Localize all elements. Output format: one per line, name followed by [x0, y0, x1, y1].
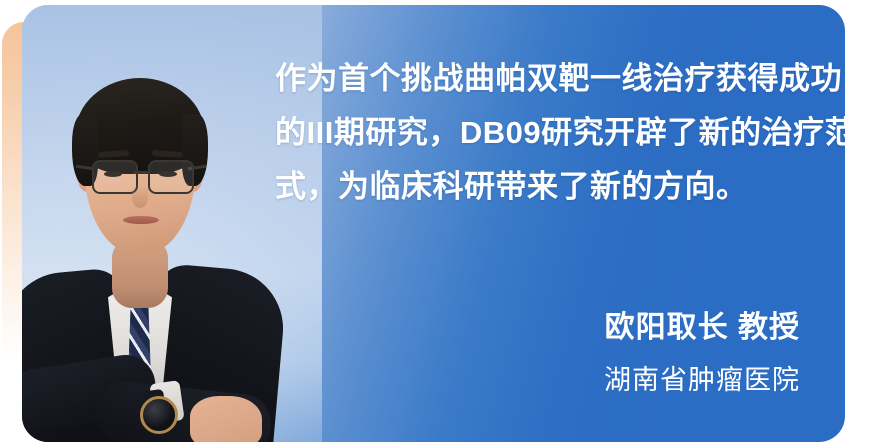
portrait-wristwatch — [140, 396, 178, 434]
speaker-portrait-photo — [22, 10, 290, 442]
portrait-hand — [190, 396, 262, 442]
glasses-lens-right — [148, 160, 194, 194]
quote-text: 作为首个挑战曲帕双靶一线治疗获得成功的III期研究，DB09研究开辟了新的治疗范… — [275, 52, 845, 214]
quote-card-stage: 作为首个挑战曲帕双靶一线治疗获得成功的III期研究，DB09研究开辟了新的治疗范… — [0, 0, 877, 442]
portrait-nose — [132, 186, 148, 208]
speaker-organization: 湖南省肿瘤医院 — [280, 360, 800, 400]
quote-card: 作为首个挑战曲帕双靶一线治疗获得成功的III期研究，DB09研究开辟了新的治疗范… — [22, 5, 845, 442]
attribution-block: 欧阳取长 教授 湖南省肿瘤医院 — [280, 308, 800, 400]
glasses-bridge — [133, 171, 149, 174]
portrait-mouth — [123, 216, 159, 224]
speaker-name: 欧阳取长 教授 — [280, 308, 800, 348]
